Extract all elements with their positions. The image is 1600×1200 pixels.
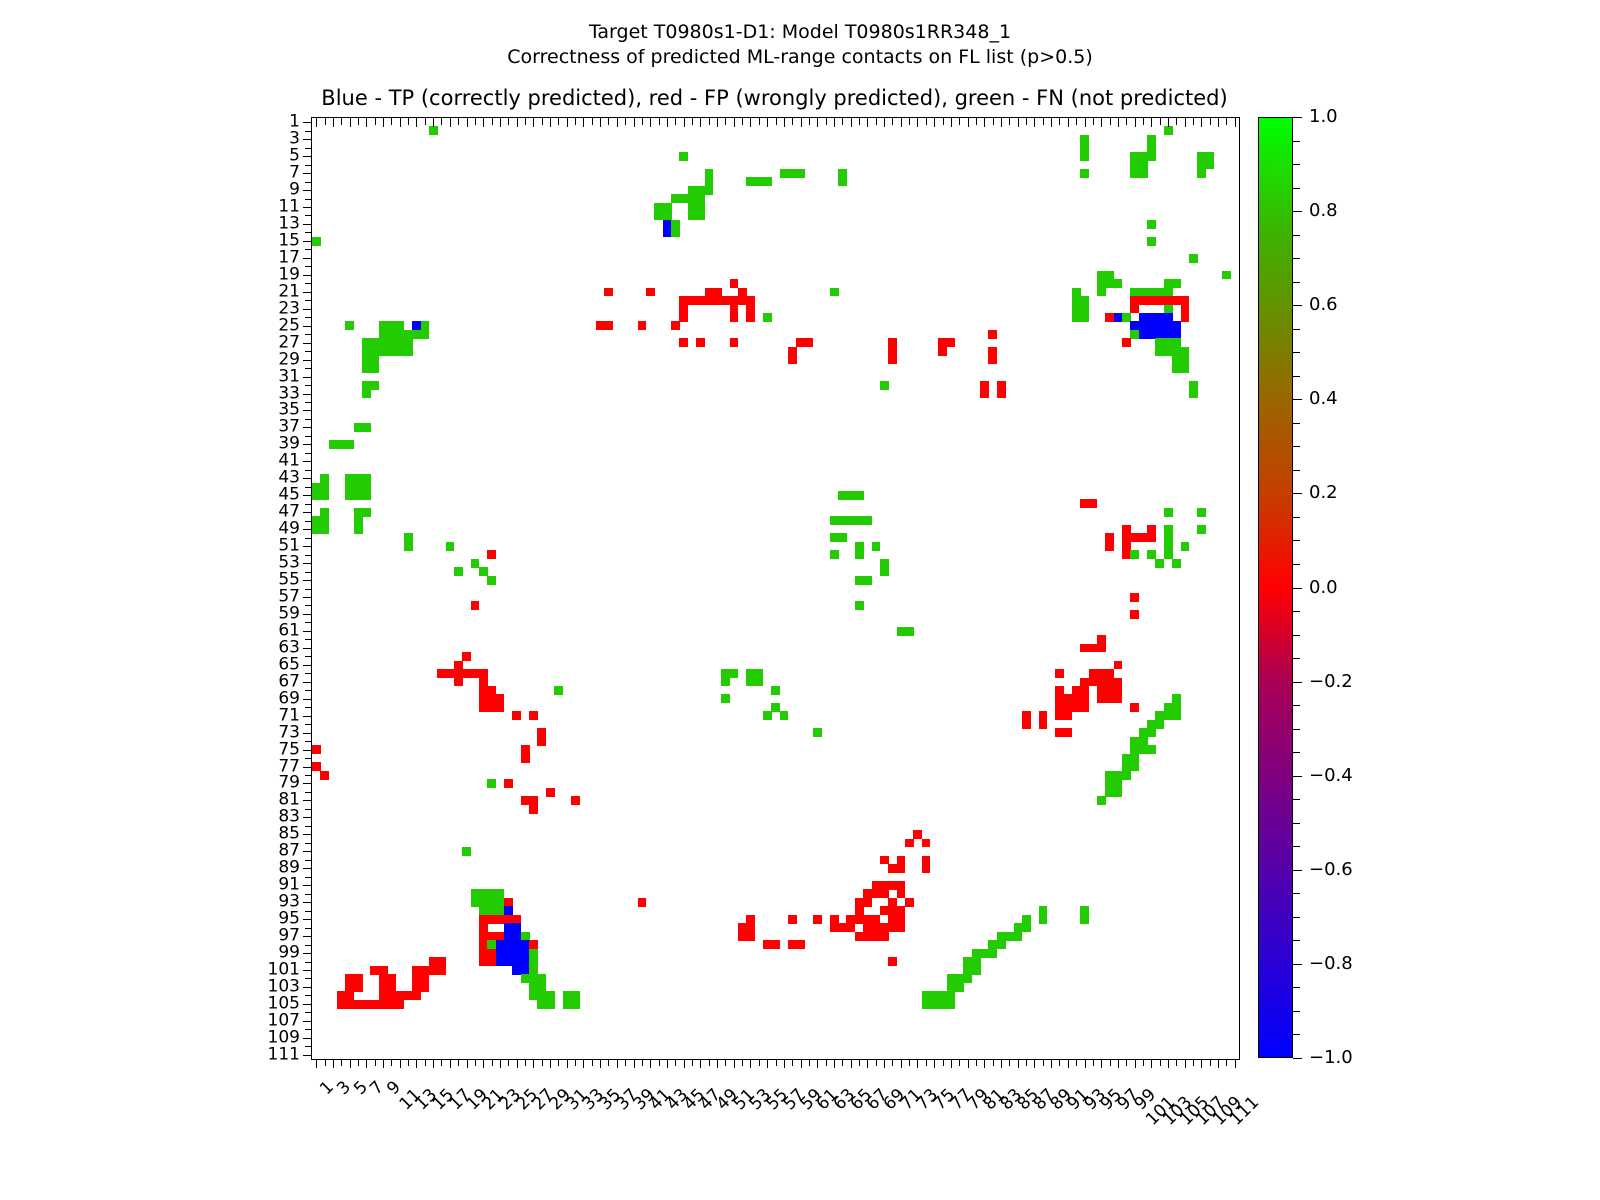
colorbar-tick-label: −0.8 — [1309, 955, 1353, 973]
y-axis-tick — [305, 1012, 312, 1013]
y-axis-tick — [305, 165, 312, 166]
y-axis-tick — [305, 283, 312, 284]
contact-cell — [746, 313, 755, 322]
y-axis-tick — [305, 351, 312, 352]
contact-cell — [838, 177, 847, 186]
x-axis-top-tick — [892, 118, 893, 125]
x-axis-top-tick — [867, 118, 868, 127]
contact-cell — [997, 389, 1006, 398]
x-axis-tick — [450, 1059, 451, 1068]
contact-cell — [947, 338, 956, 347]
x-axis-top-tick — [567, 118, 568, 127]
contact-cell — [1064, 728, 1073, 737]
contact-cell — [638, 898, 647, 907]
contact-cell — [1022, 720, 1031, 729]
x-axis-top-tick — [801, 118, 802, 127]
x-axis-top-tick — [1076, 118, 1077, 125]
x-axis-top-tick — [358, 118, 359, 125]
contact-cell — [1064, 711, 1073, 720]
colorbar-tick-label: −0.2 — [1309, 673, 1353, 691]
y-axis-tick — [303, 597, 312, 598]
x-axis-tick — [1126, 1059, 1127, 1066]
y-axis-tick — [305, 673, 312, 674]
y-axis-tick — [303, 953, 312, 954]
x-axis-tick — [634, 1059, 635, 1068]
x-axis-tick — [859, 1059, 860, 1066]
x-axis-tick — [842, 1059, 843, 1066]
contact-cell — [554, 686, 563, 695]
contact-cell — [354, 525, 363, 534]
x-axis-tick — [400, 1059, 401, 1068]
y-axis-tick — [305, 300, 312, 301]
y-axis-tick — [303, 851, 312, 852]
y-axis-tick — [303, 716, 312, 717]
contact-cell — [730, 338, 739, 347]
x-axis-top-tick — [926, 118, 927, 125]
contact-cell — [429, 126, 438, 135]
contact-cell — [1164, 508, 1173, 517]
y-axis-tick — [303, 546, 312, 547]
contact-cell — [1080, 313, 1089, 322]
colorbar-tick — [1293, 588, 1302, 589]
x-axis-top-tick — [441, 118, 442, 125]
x-axis-tick — [416, 1059, 417, 1068]
x-axis-top-tick — [400, 118, 401, 127]
colorbar-minor-tick — [1293, 752, 1300, 753]
x-axis-top-tick — [1059, 118, 1060, 125]
y-axis-tick — [305, 945, 312, 946]
contact-cell — [404, 542, 413, 551]
y-axis-tick — [303, 1021, 312, 1022]
colorbar-tick-label: −0.4 — [1309, 767, 1353, 785]
colorbar-tick-label: −0.6 — [1309, 861, 1353, 879]
x-axis-tick — [684, 1059, 685, 1068]
y-axis-tick — [303, 987, 312, 988]
y-axis-tick — [305, 622, 312, 623]
contact-cell — [362, 423, 371, 432]
x-axis-tick — [458, 1059, 459, 1066]
contact-cell — [537, 737, 546, 746]
colorbar-tick — [1293, 776, 1302, 777]
contact-cell — [1039, 720, 1048, 729]
contact-cell — [345, 321, 354, 330]
x-axis-top-tick — [1126, 118, 1127, 125]
x-axis-tick — [826, 1059, 827, 1066]
x-axis-tick — [1176, 1059, 1177, 1066]
x-axis-top-tick — [508, 118, 509, 125]
y-axis-tick — [305, 402, 312, 403]
y-axis-tick — [305, 385, 312, 386]
x-axis-tick — [642, 1059, 643, 1066]
colorbar-minor-tick — [1293, 729, 1300, 730]
contact-cell — [454, 567, 463, 576]
x-axis-top-tick — [408, 118, 409, 125]
y-axis-label: 111 — [268, 1046, 300, 1063]
contact-cell — [721, 694, 730, 703]
x-axis-tick — [1160, 1059, 1161, 1066]
y-axis-tick — [303, 885, 312, 886]
x-axis-tick — [1001, 1059, 1002, 1068]
y-axis-tick — [305, 843, 312, 844]
contact-cell — [504, 779, 513, 788]
contact-cell — [487, 779, 496, 788]
contact-cell — [755, 678, 764, 687]
y-axis-tick — [303, 326, 312, 327]
y-axis-tick — [305, 758, 312, 759]
x-axis-tick — [533, 1059, 534, 1068]
x-axis-tick — [1009, 1059, 1010, 1066]
contact-cell — [1097, 796, 1106, 805]
x-axis-tick — [425, 1059, 426, 1066]
suptitle-line-1: Target T0980s1-D1: Model T0980s1RR348_1 — [0, 20, 1600, 45]
x-axis-tick — [909, 1059, 910, 1066]
x-axis-top-tick — [934, 118, 935, 127]
x-axis-tick — [817, 1059, 818, 1068]
contact-cell — [512, 711, 521, 720]
colorbar-minor-tick — [1293, 517, 1300, 518]
contact-cell — [1197, 169, 1206, 178]
x-axis-tick — [575, 1059, 576, 1066]
x-axis-top-tick — [1226, 118, 1227, 125]
y-axis-tick — [303, 834, 312, 835]
x-axis-tick — [834, 1059, 835, 1068]
x-axis-tick — [943, 1059, 944, 1066]
x-axis-tick — [1210, 1059, 1211, 1066]
y-axis-tick — [303, 343, 312, 344]
x-axis-top-tick — [725, 118, 726, 125]
contact-cell — [679, 152, 688, 161]
contact-cell — [1181, 542, 1190, 551]
y-axis-tick — [303, 122, 312, 123]
y-axis-tick — [303, 461, 312, 462]
contact-cell — [838, 533, 847, 542]
colorbar-tick-label: 0.8 — [1309, 202, 1338, 220]
y-axis-tick — [305, 487, 312, 488]
y-axis-tick — [305, 724, 312, 725]
y-axis-tick — [305, 707, 312, 708]
contact-cell — [897, 864, 906, 873]
x-axis-top-tick — [817, 118, 818, 127]
y-axis-tick — [305, 911, 312, 912]
contact-cell — [880, 567, 889, 576]
x-axis-tick — [467, 1059, 468, 1068]
colorbar-minor-tick — [1293, 258, 1300, 259]
colorbar-minor-tick — [1293, 329, 1300, 330]
x-axis-top-tick — [316, 118, 317, 127]
contact-cell — [863, 898, 872, 907]
x-axis-top-tick — [901, 118, 902, 127]
x-axis-top-tick — [575, 118, 576, 125]
contact-cell — [471, 601, 480, 610]
x-axis-top-tick — [684, 118, 685, 127]
y-axis-tick — [305, 928, 312, 929]
contact-cell — [863, 576, 872, 585]
contact-cell — [487, 550, 496, 559]
contact-cell — [1147, 237, 1156, 246]
y-axis-tick — [303, 377, 312, 378]
y-axis-tick — [303, 1038, 312, 1039]
y-axis-tick — [303, 495, 312, 496]
x-axis-tick — [1085, 1059, 1086, 1068]
x-axis-tick — [1168, 1059, 1169, 1068]
contact-cell — [1206, 160, 1215, 169]
contact-cell — [947, 1000, 956, 1009]
x-axis-tick — [1101, 1059, 1102, 1068]
contact-cell — [437, 966, 446, 975]
colorbar-minor-tick — [1293, 141, 1300, 142]
x-axis-top-tick — [500, 118, 501, 127]
contact-cell — [1122, 338, 1131, 347]
contact-cell — [1114, 661, 1123, 670]
contact-cell — [638, 321, 647, 330]
x-axis-tick — [1135, 1059, 1136, 1068]
contact-cell-layer — [312, 118, 1239, 1059]
x-axis-top-tick — [759, 118, 760, 125]
x-axis-tick — [650, 1059, 651, 1068]
colorbar-tick — [1293, 870, 1302, 871]
x-axis-tick — [750, 1059, 751, 1068]
x-axis-tick — [408, 1059, 409, 1066]
y-axis-tick — [303, 394, 312, 395]
contact-cell — [922, 864, 931, 873]
contact-cell — [696, 338, 705, 347]
colorbar-tick-label: 1.0 — [1309, 108, 1338, 126]
contact-cell — [1147, 728, 1156, 737]
contact-cell — [362, 389, 371, 398]
contact-cell — [521, 754, 530, 763]
contact-cell — [788, 355, 797, 364]
y-axis-tick — [303, 512, 312, 513]
x-axis-tick — [1076, 1059, 1077, 1066]
x-axis-tick — [709, 1059, 710, 1066]
contact-cell — [905, 898, 914, 907]
y-axis-tick — [303, 750, 312, 751]
contact-cell — [1155, 559, 1164, 568]
x-axis-top-tick — [667, 118, 668, 127]
x-axis-top-tick — [625, 118, 626, 125]
x-axis-top-tick — [692, 118, 693, 125]
x-axis-tick — [358, 1059, 359, 1066]
y-axis-tick — [303, 631, 312, 632]
contact-cell — [1080, 915, 1089, 924]
contact-cell — [796, 169, 805, 178]
x-axis-top-tick — [959, 118, 960, 125]
x-axis-tick — [951, 1059, 952, 1068]
x-axis-top-tick — [1043, 118, 1044, 125]
contact-cell — [404, 347, 413, 356]
colorbar-tick — [1293, 305, 1302, 306]
contact-cell — [671, 228, 680, 237]
x-axis-tick — [767, 1059, 768, 1068]
contact-cell — [462, 652, 471, 661]
y-axis-tick — [303, 733, 312, 734]
x-axis-tick — [917, 1059, 918, 1068]
y-axis-tick — [305, 470, 312, 471]
x-axis-tick — [759, 1059, 760, 1066]
x-axis-tick — [1226, 1059, 1227, 1066]
x-axis-top-tick — [1051, 118, 1052, 127]
y-axis-tick — [303, 580, 312, 581]
contact-cell — [1130, 610, 1139, 619]
colorbar-minor-tick — [1293, 540, 1300, 541]
contact-cell — [1197, 508, 1206, 517]
x-axis-tick — [433, 1059, 434, 1068]
colorbar-minor-tick — [1293, 235, 1300, 236]
y-axis-tick — [305, 860, 312, 861]
y-axis-tick — [305, 1046, 312, 1047]
x-axis-tick — [550, 1059, 551, 1068]
contact-cell — [1189, 389, 1198, 398]
x-axis-top-tick — [659, 118, 660, 125]
y-axis-tick — [305, 809, 312, 810]
contact-cell — [1164, 126, 1173, 135]
x-axis-top-tick — [1218, 118, 1219, 127]
contact-cell — [763, 313, 772, 322]
x-axis-tick — [567, 1059, 568, 1068]
contact-cell — [1097, 288, 1106, 297]
x-axis-top-tick — [842, 118, 843, 125]
x-axis-tick — [784, 1059, 785, 1068]
x-axis-top-tick — [433, 118, 434, 127]
colorbar-gradient — [1258, 117, 1293, 1058]
x-axis-tick — [517, 1059, 518, 1068]
x-axis-tick — [1193, 1059, 1194, 1066]
contact-cell — [1172, 711, 1181, 720]
contact-cell — [1189, 254, 1198, 263]
x-axis-tick — [968, 1059, 969, 1068]
y-axis-tick — [305, 436, 312, 437]
colorbar-tick-label: −1.0 — [1309, 1049, 1353, 1067]
y-axis-tick — [303, 936, 312, 937]
x-axis-tick — [1110, 1059, 1111, 1066]
y-axis-tick — [305, 826, 312, 827]
y-axis-tick — [305, 690, 312, 691]
y-axis-tick — [305, 877, 312, 878]
x-axis-tick — [1043, 1059, 1044, 1066]
colorbar-minor-tick — [1293, 446, 1300, 447]
contact-cell — [312, 237, 321, 246]
x-axis-tick — [792, 1059, 793, 1066]
colorbar-minor-tick — [1293, 846, 1300, 847]
x-axis-top-tick — [333, 118, 334, 127]
x-axis-top-tick — [1143, 118, 1144, 125]
x-axis-tick — [1018, 1059, 1019, 1068]
x-axis-top-tick — [1118, 118, 1119, 127]
x-axis-top-tick — [483, 118, 484, 127]
contact-cell — [412, 991, 421, 1000]
colorbar-minor-tick — [1293, 164, 1300, 165]
contact-cell — [646, 288, 655, 297]
y-axis-tick — [303, 478, 312, 479]
x-axis-tick — [333, 1059, 334, 1068]
y-axis-tick — [303, 868, 312, 869]
x-axis-tick — [892, 1059, 893, 1066]
colorbar-minor-tick — [1293, 917, 1300, 918]
x-axis-top-tick — [1009, 118, 1010, 125]
y-axis-tick — [305, 232, 312, 233]
x-axis-top-tick — [325, 118, 326, 125]
contact-cell — [1039, 915, 1048, 924]
x-axis-top-tick — [909, 118, 910, 125]
x-axis-top-tick — [608, 118, 609, 125]
y-axis-tick — [303, 767, 312, 768]
x-axis-top-tick — [475, 118, 476, 125]
colorbar-tick-label: 0.4 — [1309, 390, 1338, 408]
x-axis-tick — [659, 1059, 660, 1066]
x-axis-tick — [525, 1059, 526, 1066]
x-axis-tick — [675, 1059, 676, 1066]
contact-cell — [771, 686, 780, 695]
x-axis-top-tick — [784, 118, 785, 127]
x-axis-tick — [1201, 1059, 1202, 1068]
suptitle-line-2: Correctness of predicted ML-range contac… — [0, 45, 1600, 70]
x-axis-tick — [884, 1059, 885, 1068]
x-axis-tick — [976, 1059, 977, 1066]
contact-cell — [604, 288, 613, 297]
x-axis-top-tick — [1201, 118, 1202, 127]
x-axis-top-tick — [1168, 118, 1169, 127]
contact-cell — [988, 330, 997, 339]
x-axis-top-tick — [458, 118, 459, 125]
contact-cell — [988, 949, 997, 958]
x-axis-top-tick — [1176, 118, 1177, 125]
colorbar-tick — [1293, 964, 1302, 965]
y-axis-tick — [305, 182, 312, 183]
x-axis-top-tick — [366, 118, 367, 127]
contact-cell — [421, 983, 430, 992]
colorbar-minor-tick — [1293, 705, 1300, 706]
x-axis-tick — [734, 1059, 735, 1068]
x-axis-top-tick — [425, 118, 426, 125]
x-axis-top-tick — [1018, 118, 1019, 127]
x-axis-top-tick — [700, 118, 701, 127]
contact-cell — [546, 788, 555, 797]
contact-cell — [1097, 644, 1106, 653]
x-axis-top-tick — [742, 118, 743, 125]
contact-cell — [1181, 313, 1190, 322]
y-axis-tick — [305, 555, 312, 556]
x-axis-top-tick — [709, 118, 710, 125]
colorbar-minor-tick — [1293, 352, 1300, 353]
y-axis-tick — [303, 800, 312, 801]
colorbar-minor-tick — [1293, 940, 1300, 941]
contact-cell — [880, 381, 889, 390]
y-axis-tick — [305, 317, 312, 318]
x-axis-top-tick — [1001, 118, 1002, 127]
x-axis-top-tick — [675, 118, 676, 125]
x-axis-top-tick — [542, 118, 543, 125]
x-axis-tick — [500, 1059, 501, 1068]
x-axis-tick — [901, 1059, 902, 1068]
x-axis-top-tick — [350, 118, 351, 127]
colorbar-minor-tick — [1293, 423, 1300, 424]
contact-cell — [1080, 703, 1089, 712]
contact-cell — [1147, 220, 1156, 229]
contact-cell — [763, 711, 772, 720]
contact-cell — [897, 923, 906, 932]
y-axis-tick — [303, 783, 312, 784]
contact-cell — [788, 915, 797, 924]
x-axis-tick — [926, 1059, 927, 1066]
x-axis-tick — [692, 1059, 693, 1066]
contact-cell — [1089, 499, 1098, 508]
contact-cell — [320, 771, 329, 780]
x-axis-top-tick — [1026, 118, 1027, 125]
y-axis-tick — [303, 970, 312, 971]
colorbar-minor-tick — [1293, 1011, 1300, 1012]
x-axis-tick — [1143, 1059, 1144, 1066]
contact-cell — [571, 1000, 580, 1009]
